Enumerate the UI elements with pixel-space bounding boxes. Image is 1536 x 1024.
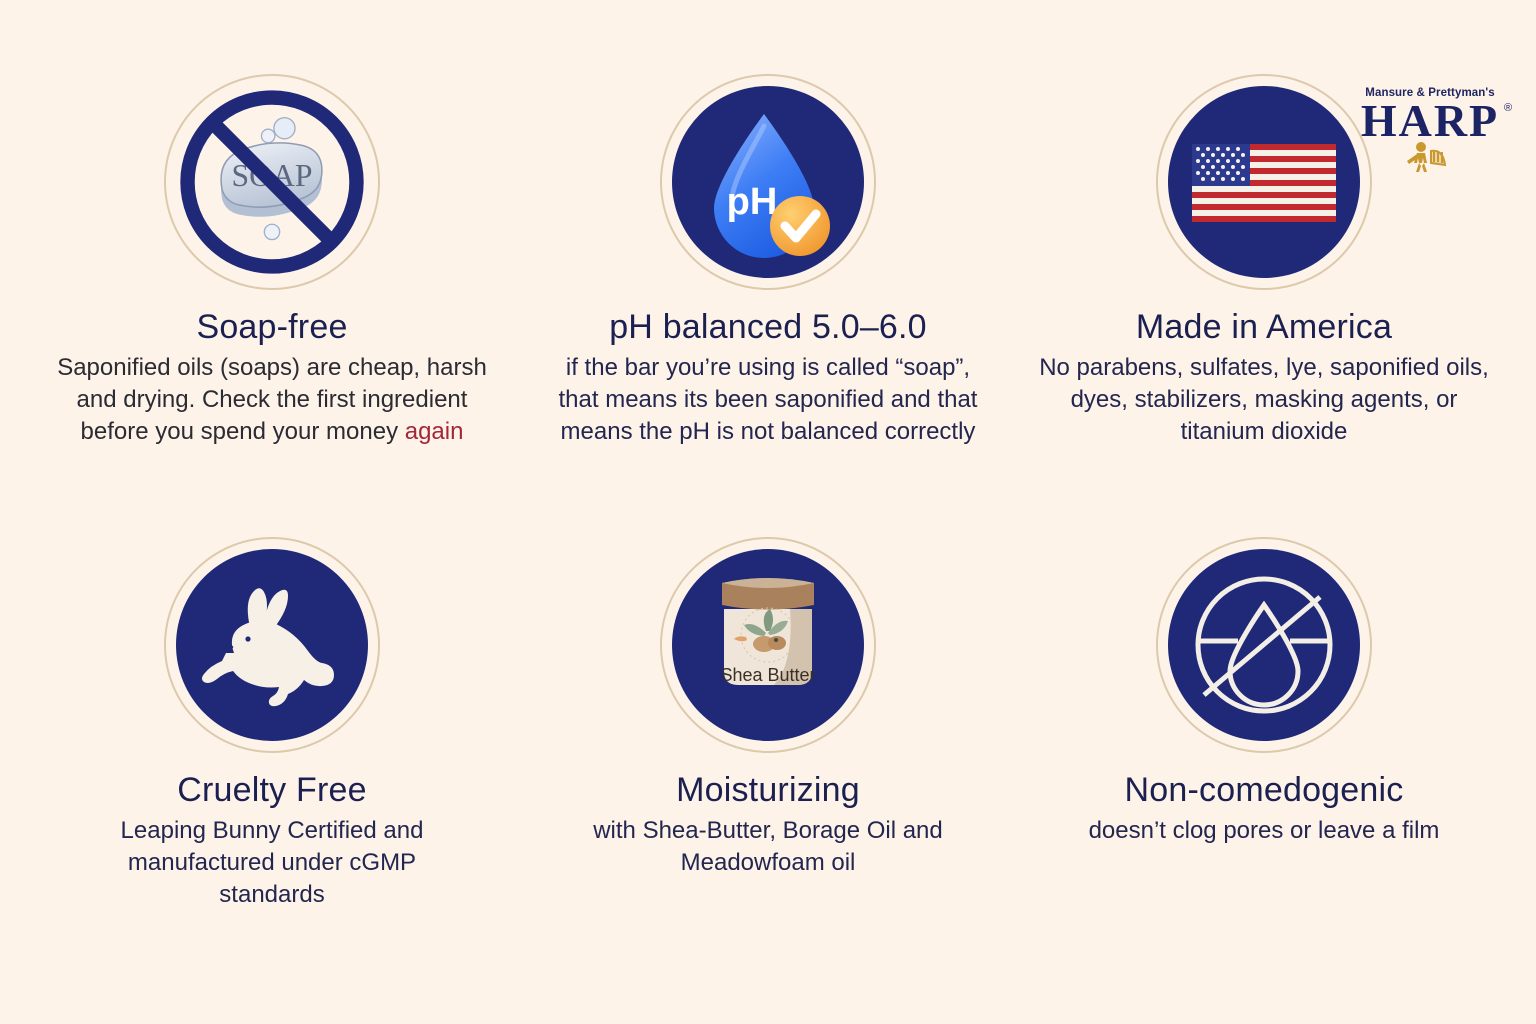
- badge-disc: Shea Butter: [672, 549, 864, 741]
- badge-disc: [1168, 86, 1360, 278]
- feature-description: if the bar you’re using is called “soap”…: [543, 352, 993, 448]
- feature-grid: SOAP Soap-free Saponified oils (soaps) a…: [0, 0, 1536, 1024]
- feature-card-ph-balanced: pH pH balanced 5.0–6.0 if the bar you’re…: [520, 60, 1016, 537]
- feature-title: Soap-free: [196, 308, 347, 346]
- feature-card-cruelty-free: Cruelty Free Leaping Bunny Certified and…: [24, 537, 520, 1014]
- feature-title: Moisturizing: [676, 771, 860, 809]
- feature-card-made-in-america: Made in America No parabens, sulfates, l…: [1016, 60, 1512, 537]
- feature-title: Non-comedogenic: [1125, 771, 1404, 809]
- feature-description: doesn’t clog pores or leave a film: [1089, 815, 1440, 847]
- feature-card-moisturizing: Shea Butter Moisturizing with Shea-Butte…: [520, 537, 1016, 1014]
- shea-butter-jar-icon: Shea Butter: [660, 537, 876, 753]
- feature-card-soap-free: SOAP Soap-free Saponified oils (soaps) a…: [24, 60, 520, 537]
- feature-description-accent: again: [405, 418, 464, 445]
- badge-disc: [1168, 549, 1360, 741]
- feature-title: Cruelty Free: [177, 771, 366, 809]
- feature-description: Saponified oils (soaps) are cheap, harsh…: [52, 352, 492, 448]
- feature-card-non-comedogenic: Non-comedogenic doesn’t clog pores or le…: [1016, 537, 1512, 1014]
- feature-description: Leaping Bunny Certified and manufactured…: [82, 815, 462, 911]
- no-soap-prohibition-icon: SOAP: [164, 74, 380, 290]
- usa-flag-icon: [1156, 74, 1372, 290]
- ph-label: pH: [727, 181, 778, 223]
- leaping-bunny-icon: [164, 537, 380, 753]
- feature-title: pH balanced 5.0–6.0: [609, 308, 927, 346]
- jar-label: Shea Butter: [720, 665, 815, 685]
- feature-title: Made in America: [1136, 308, 1392, 346]
- non-comedogenic-droplet-icon: [1156, 537, 1372, 753]
- ph-droplet-check-icon: pH: [660, 74, 876, 290]
- badge-disc: SOAP: [176, 86, 368, 278]
- feature-description: with Shea-Butter, Borage Oil and Meadowf…: [583, 815, 953, 879]
- badge-disc: [176, 549, 368, 741]
- feature-description: No parabens, sulfates, lye, saponified o…: [1029, 352, 1499, 448]
- badge-disc: pH: [672, 86, 864, 278]
